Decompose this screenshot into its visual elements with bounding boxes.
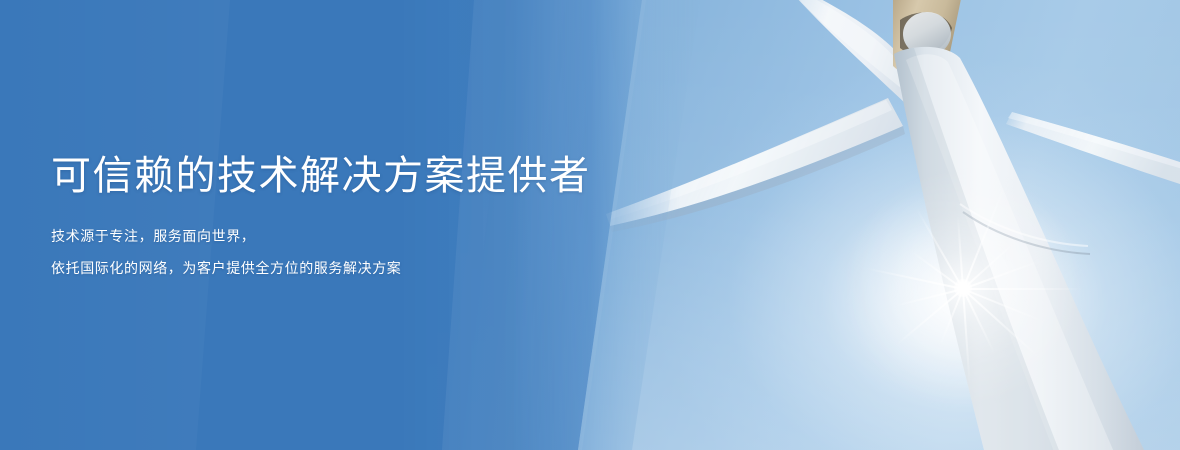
banner-headline: 可信赖的技术解决方案提供者 bbox=[51, 152, 691, 200]
banner-copy: 可信赖的技术解决方案提供者 技术源于专注，服务面向世界， 依托国际化的网络，为客… bbox=[51, 152, 691, 284]
banner-subtitle: 技术源于专注，服务面向世界， 依托国际化的网络，为客户提供全方位的服务解决方案 bbox=[51, 200, 691, 284]
banner-subtitle-line-2: 依托国际化的网络，为客户提供全方位的服务解决方案 bbox=[51, 252, 691, 284]
sun-ray bbox=[963, 288, 1083, 290]
banner-subtitle-line-1: 技术源于专注，服务面向世界， bbox=[51, 220, 691, 252]
sun-core bbox=[954, 279, 972, 297]
hero-banner: 可信赖的技术解决方案提供者 技术源于专注，服务面向世界， 依托国际化的网络，为客… bbox=[0, 0, 1180, 450]
